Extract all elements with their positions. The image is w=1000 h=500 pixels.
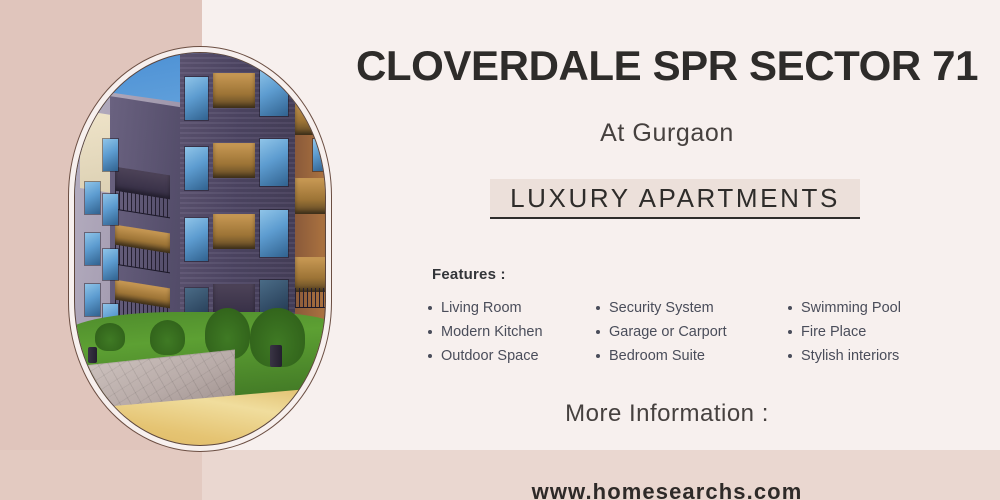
photo-window: [85, 233, 100, 264]
feature-label: Stylish interiors: [801, 346, 899, 366]
bullet-icon: [596, 306, 600, 310]
photo-trash-bin: [88, 347, 97, 363]
bullet-icon: [596, 330, 600, 334]
photo-window: [313, 139, 326, 170]
features-column-3: Swimming Pool Fire Place Stylish interio…: [788, 298, 901, 370]
list-item: Stylish interiors: [788, 346, 901, 366]
photo-railing: [295, 288, 326, 308]
photo-window: [85, 182, 100, 213]
footer-band-left-segment: [0, 450, 202, 500]
list-item: Fire Place: [788, 322, 901, 342]
feature-label: Swimming Pool: [801, 298, 901, 318]
features-column-2: Security System Garage or Carport Bedroo…: [596, 298, 727, 370]
photo-frame: [68, 46, 332, 452]
photo-balcony: [213, 73, 256, 108]
property-banner: CLOVERDALE SPR SECTOR 71 At Gurgaon LUXU…: [0, 0, 1000, 500]
feature-label: Bedroom Suite: [609, 346, 705, 366]
bullet-icon: [788, 306, 792, 310]
page-title: CLOVERDALE SPR SECTOR 71: [352, 44, 982, 88]
photo-window: [260, 69, 288, 116]
bullet-icon: [596, 354, 600, 358]
location-subtitle: At Gurgaon: [352, 119, 982, 148]
photo-window: [103, 249, 118, 280]
bullet-icon: [788, 354, 792, 358]
photo-window: [185, 77, 208, 120]
list-item: Bedroom Suite: [596, 346, 727, 366]
photo-window: [260, 210, 288, 257]
bullet-icon: [428, 330, 432, 334]
photo-balcony: [295, 100, 326, 135]
feature-label: Fire Place: [801, 322, 866, 342]
photo-shrub: [95, 323, 125, 350]
list-item: Modern Kitchen: [428, 322, 543, 342]
feature-label: Garage or Carport: [609, 322, 727, 342]
list-item: Living Room: [428, 298, 543, 318]
tagline-highlight: LUXURY APARTMENTS: [490, 179, 860, 219]
features-heading: Features :: [432, 266, 506, 283]
photo-shrub: [150, 320, 185, 355]
feature-label: Outdoor Space: [441, 346, 539, 366]
photo-window: [185, 218, 208, 261]
photo-window: [260, 139, 288, 186]
features-column-1: Living Room Modern Kitchen Outdoor Space: [428, 298, 543, 370]
tagline-text: LUXURY APARTMENTS: [510, 183, 840, 214]
list-item: Security System: [596, 298, 727, 318]
bullet-icon: [788, 330, 792, 334]
feature-label: Security System: [609, 298, 714, 318]
photo-trash-bin: [270, 345, 282, 367]
website-url-link[interactable]: www.homesearchs.com: [352, 479, 982, 500]
photo-balcony: [295, 178, 326, 213]
feature-label: Living Room: [441, 298, 522, 318]
list-item: Swimming Pool: [788, 298, 901, 318]
photo-window: [85, 284, 100, 315]
bullet-icon: [428, 306, 432, 310]
photo-balcony: [213, 214, 256, 249]
feature-label: Modern Kitchen: [441, 322, 543, 342]
photo-window: [103, 139, 118, 170]
more-information-label: More Information :: [352, 400, 982, 428]
photo-window: [185, 147, 208, 190]
apartment-building-photo: [74, 52, 326, 446]
photo-window: [293, 69, 306, 96]
list-item: Garage or Carport: [596, 322, 727, 342]
list-item: Outdoor Space: [428, 346, 543, 366]
photo-window: [103, 194, 118, 225]
photo-balcony: [295, 257, 326, 292]
photo-balcony: [213, 143, 256, 178]
bullet-icon: [428, 354, 432, 358]
